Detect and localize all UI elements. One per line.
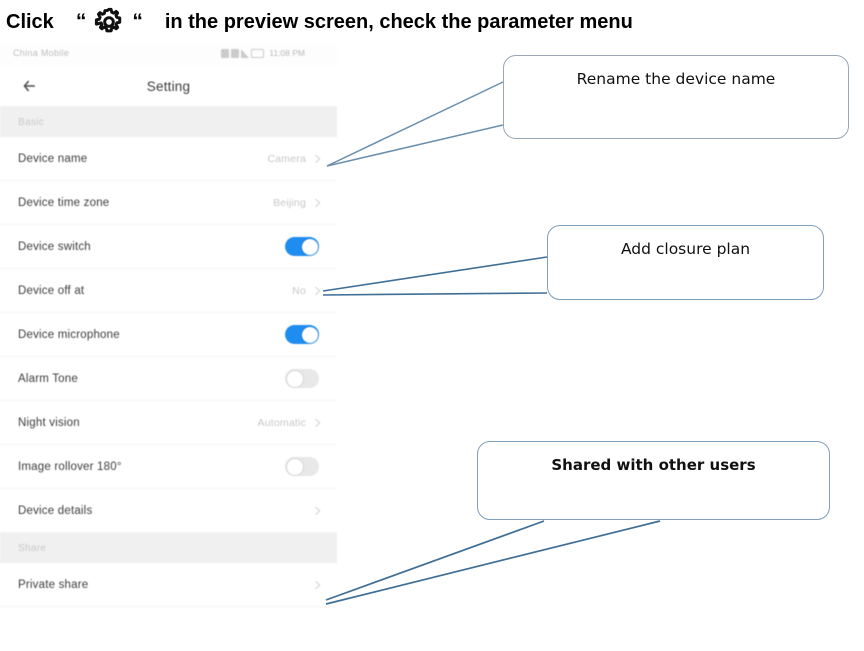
- settings-row[interactable]: Device switch: [0, 225, 337, 269]
- settings-row[interactable]: Night visionAutomatic: [0, 401, 337, 445]
- heading-post-text: in the preview screen, check the paramet…: [165, 11, 633, 34]
- chevron-right-icon: [312, 154, 320, 162]
- section-header: Basic: [0, 107, 337, 137]
- chevron-right-icon: [312, 418, 320, 426]
- settings-row-label: Device details: [18, 505, 306, 517]
- instruction-heading: Click “ “ in the preview screen, check t…: [6, 2, 856, 42]
- settings-row-label: Device time zone: [18, 197, 273, 209]
- settings-row[interactable]: Image rollover 180°: [0, 445, 337, 489]
- leader-line-closure-bottom: [323, 293, 547, 295]
- status-bar: China Mobile 11:08 PM: [0, 44, 337, 66]
- settings-row-label: Image rollover 180°: [18, 461, 285, 473]
- toggle-knob: [287, 459, 303, 475]
- toggle-switch[interactable]: [285, 369, 319, 388]
- chevron-right-icon: [312, 580, 320, 588]
- wifi-icon: [231, 49, 239, 58]
- callout-shared-with-other-users: Shared with other users: [477, 441, 830, 520]
- heading-quote-close: “: [132, 10, 143, 34]
- heading-pre-text: Click: [6, 11, 54, 34]
- settings-row-label: Device name: [18, 153, 267, 165]
- callout-rename-text: Rename the device name: [577, 70, 776, 138]
- toggle-knob: [302, 239, 318, 255]
- leader-line-closure-top: [323, 257, 547, 291]
- section-header: Share: [0, 533, 337, 563]
- toggle-knob: [302, 327, 318, 343]
- back-arrow-icon[interactable]: [20, 77, 38, 95]
- toggle-knob: [287, 371, 303, 387]
- nav-bar: Setting: [0, 66, 337, 107]
- settings-row[interactable]: Device time zoneBeijing: [0, 181, 337, 225]
- signal-icon: [241, 49, 249, 58]
- leader-line-rename-bottom: [327, 125, 503, 166]
- settings-row-value: Automatic: [258, 417, 307, 429]
- settings-row[interactable]: Device details: [0, 489, 337, 533]
- settings-row[interactable]: Alarm Tone: [0, 357, 337, 401]
- chevron-right-icon: [312, 198, 320, 206]
- settings-row[interactable]: Private share: [0, 563, 337, 607]
- callout-closure-text: Add closure plan: [621, 240, 750, 299]
- leader-line-shared-bottom: [326, 521, 660, 604]
- callout-shared-text: Shared with other users: [551, 456, 755, 519]
- gear-icon: [86, 5, 132, 39]
- chevron-right-icon: [312, 506, 320, 514]
- settings-row-value: Beijing: [273, 197, 306, 209]
- settings-row-value: Camera: [267, 153, 306, 165]
- chevron-right-icon: [312, 286, 320, 294]
- toggle-switch[interactable]: [285, 325, 319, 344]
- settings-row-label: Night vision: [18, 417, 258, 429]
- settings-list: BasicDevice nameCameraDevice time zoneBe…: [0, 107, 337, 607]
- leader-line-rename-top: [327, 82, 503, 166]
- heading-quote-open: “: [76, 10, 87, 34]
- status-time: 11:08 PM: [269, 48, 305, 58]
- vibrate-icon: [251, 49, 264, 58]
- carrier-label: China Mobile: [13, 48, 69, 58]
- callout-rename: Rename the device name: [503, 55, 849, 139]
- toggle-switch[interactable]: [285, 237, 319, 256]
- leader-line-shared-top: [326, 521, 544, 600]
- settings-row-label: Device switch: [18, 241, 285, 253]
- settings-row[interactable]: Device off atNo: [0, 269, 337, 313]
- settings-row-label: Device microphone: [18, 329, 285, 341]
- toggle-switch[interactable]: [285, 457, 319, 476]
- settings-row-label: Alarm Tone: [18, 373, 285, 385]
- status-icons: 11:08 PM: [221, 48, 305, 58]
- settings-row[interactable]: Device nameCamera: [0, 137, 337, 181]
- page-title: Setting: [147, 79, 190, 94]
- sim-icon: [221, 49, 229, 58]
- settings-row[interactable]: Device microphone: [0, 313, 337, 357]
- settings-row-value: No: [292, 285, 306, 297]
- settings-row-label: Private share: [18, 579, 306, 591]
- settings-row-label: Device off at: [18, 285, 292, 297]
- callout-add-closure-plan: Add closure plan: [547, 225, 824, 300]
- phone-screenshot: China Mobile 11:08 PM Setting BasicDevic…: [0, 44, 337, 644]
